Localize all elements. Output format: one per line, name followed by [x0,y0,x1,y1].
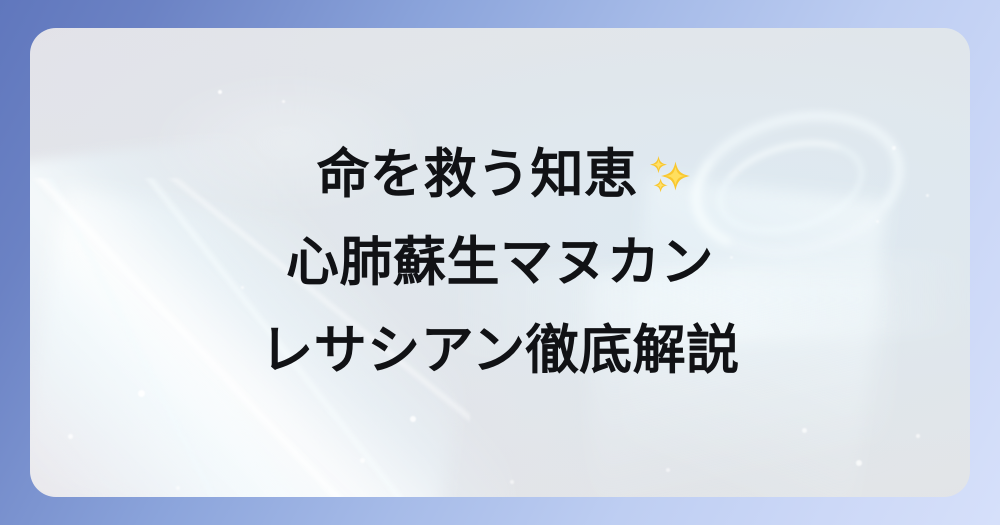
page-title: 命を救う知恵 心肺蘇生マヌカン [30,28,970,497]
title-line-1: 命を救う知恵 [303,131,698,219]
title-line-3: レサシアン徹底解説 [260,307,739,395]
title-line-1-text: 命を救う知恵 [317,131,638,219]
title-line-2: 心肺蘇生マヌカン [286,219,714,307]
sparkles-icon [642,147,698,203]
title-line-3-text: レサシアン徹底解説 [260,307,739,395]
title-card: 命を救う知恵 心肺蘇生マヌカン [30,28,970,497]
title-line-2-text: 心肺蘇生マヌカン [286,219,714,307]
canvas-frame: 命を救う知恵 心肺蘇生マヌカン [0,0,1000,525]
